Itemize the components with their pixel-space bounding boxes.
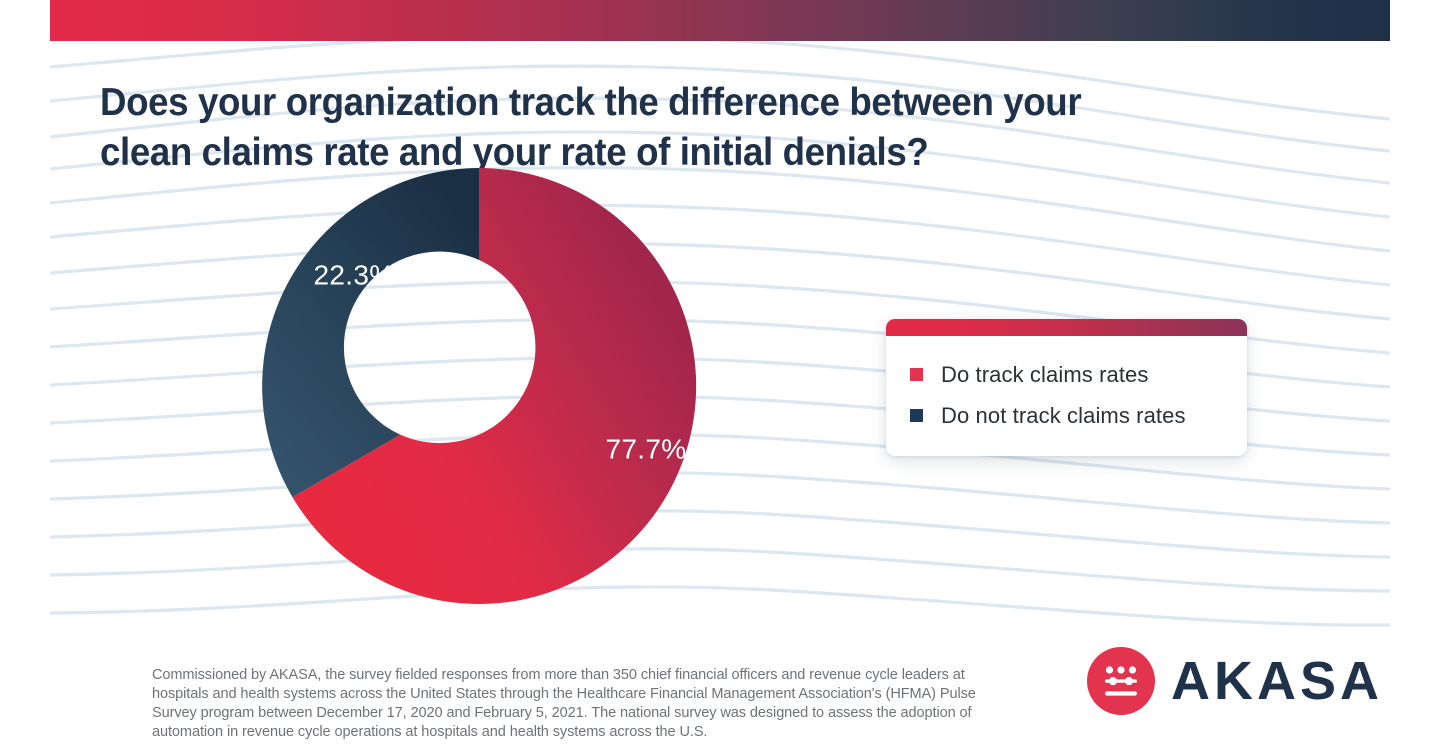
chart-legend: Do track claims rates Do not track claim…: [886, 319, 1247, 456]
donut-chart: 22.3% 77.7%: [258, 164, 700, 608]
red-square-swatch-icon: [910, 368, 923, 381]
navy-square-swatch-icon: [910, 409, 923, 422]
legend-accent-bar: [886, 319, 1247, 336]
donut-label-do-track: 77.7%: [606, 433, 687, 464]
survey-methodology-note: Commissioned by AKASA, the survey fielde…: [152, 665, 1020, 741]
legend-item-label: Do not track claims rates: [941, 403, 1186, 429]
slide-canvas: Does your organization track the differe…: [0, 0, 1440, 754]
akasa-logo: AKASA: [1087, 647, 1383, 715]
legend-item-label: Do track claims rates: [941, 362, 1148, 388]
donut-label-do-not-track: 22.3%: [314, 259, 395, 290]
slide-title: Does your organization track the differe…: [100, 78, 1162, 178]
akasa-wordmark: AKASA: [1171, 654, 1383, 708]
top-gradient-banner: [50, 0, 1390, 41]
akasa-abacus-icon: [1087, 647, 1155, 715]
legend-items: Do track claims rates Do not track claim…: [886, 336, 1247, 456]
legend-item-do-not-track[interactable]: Do not track claims rates: [886, 395, 1247, 436]
legend-item-do-track[interactable]: Do track claims rates: [886, 354, 1247, 395]
